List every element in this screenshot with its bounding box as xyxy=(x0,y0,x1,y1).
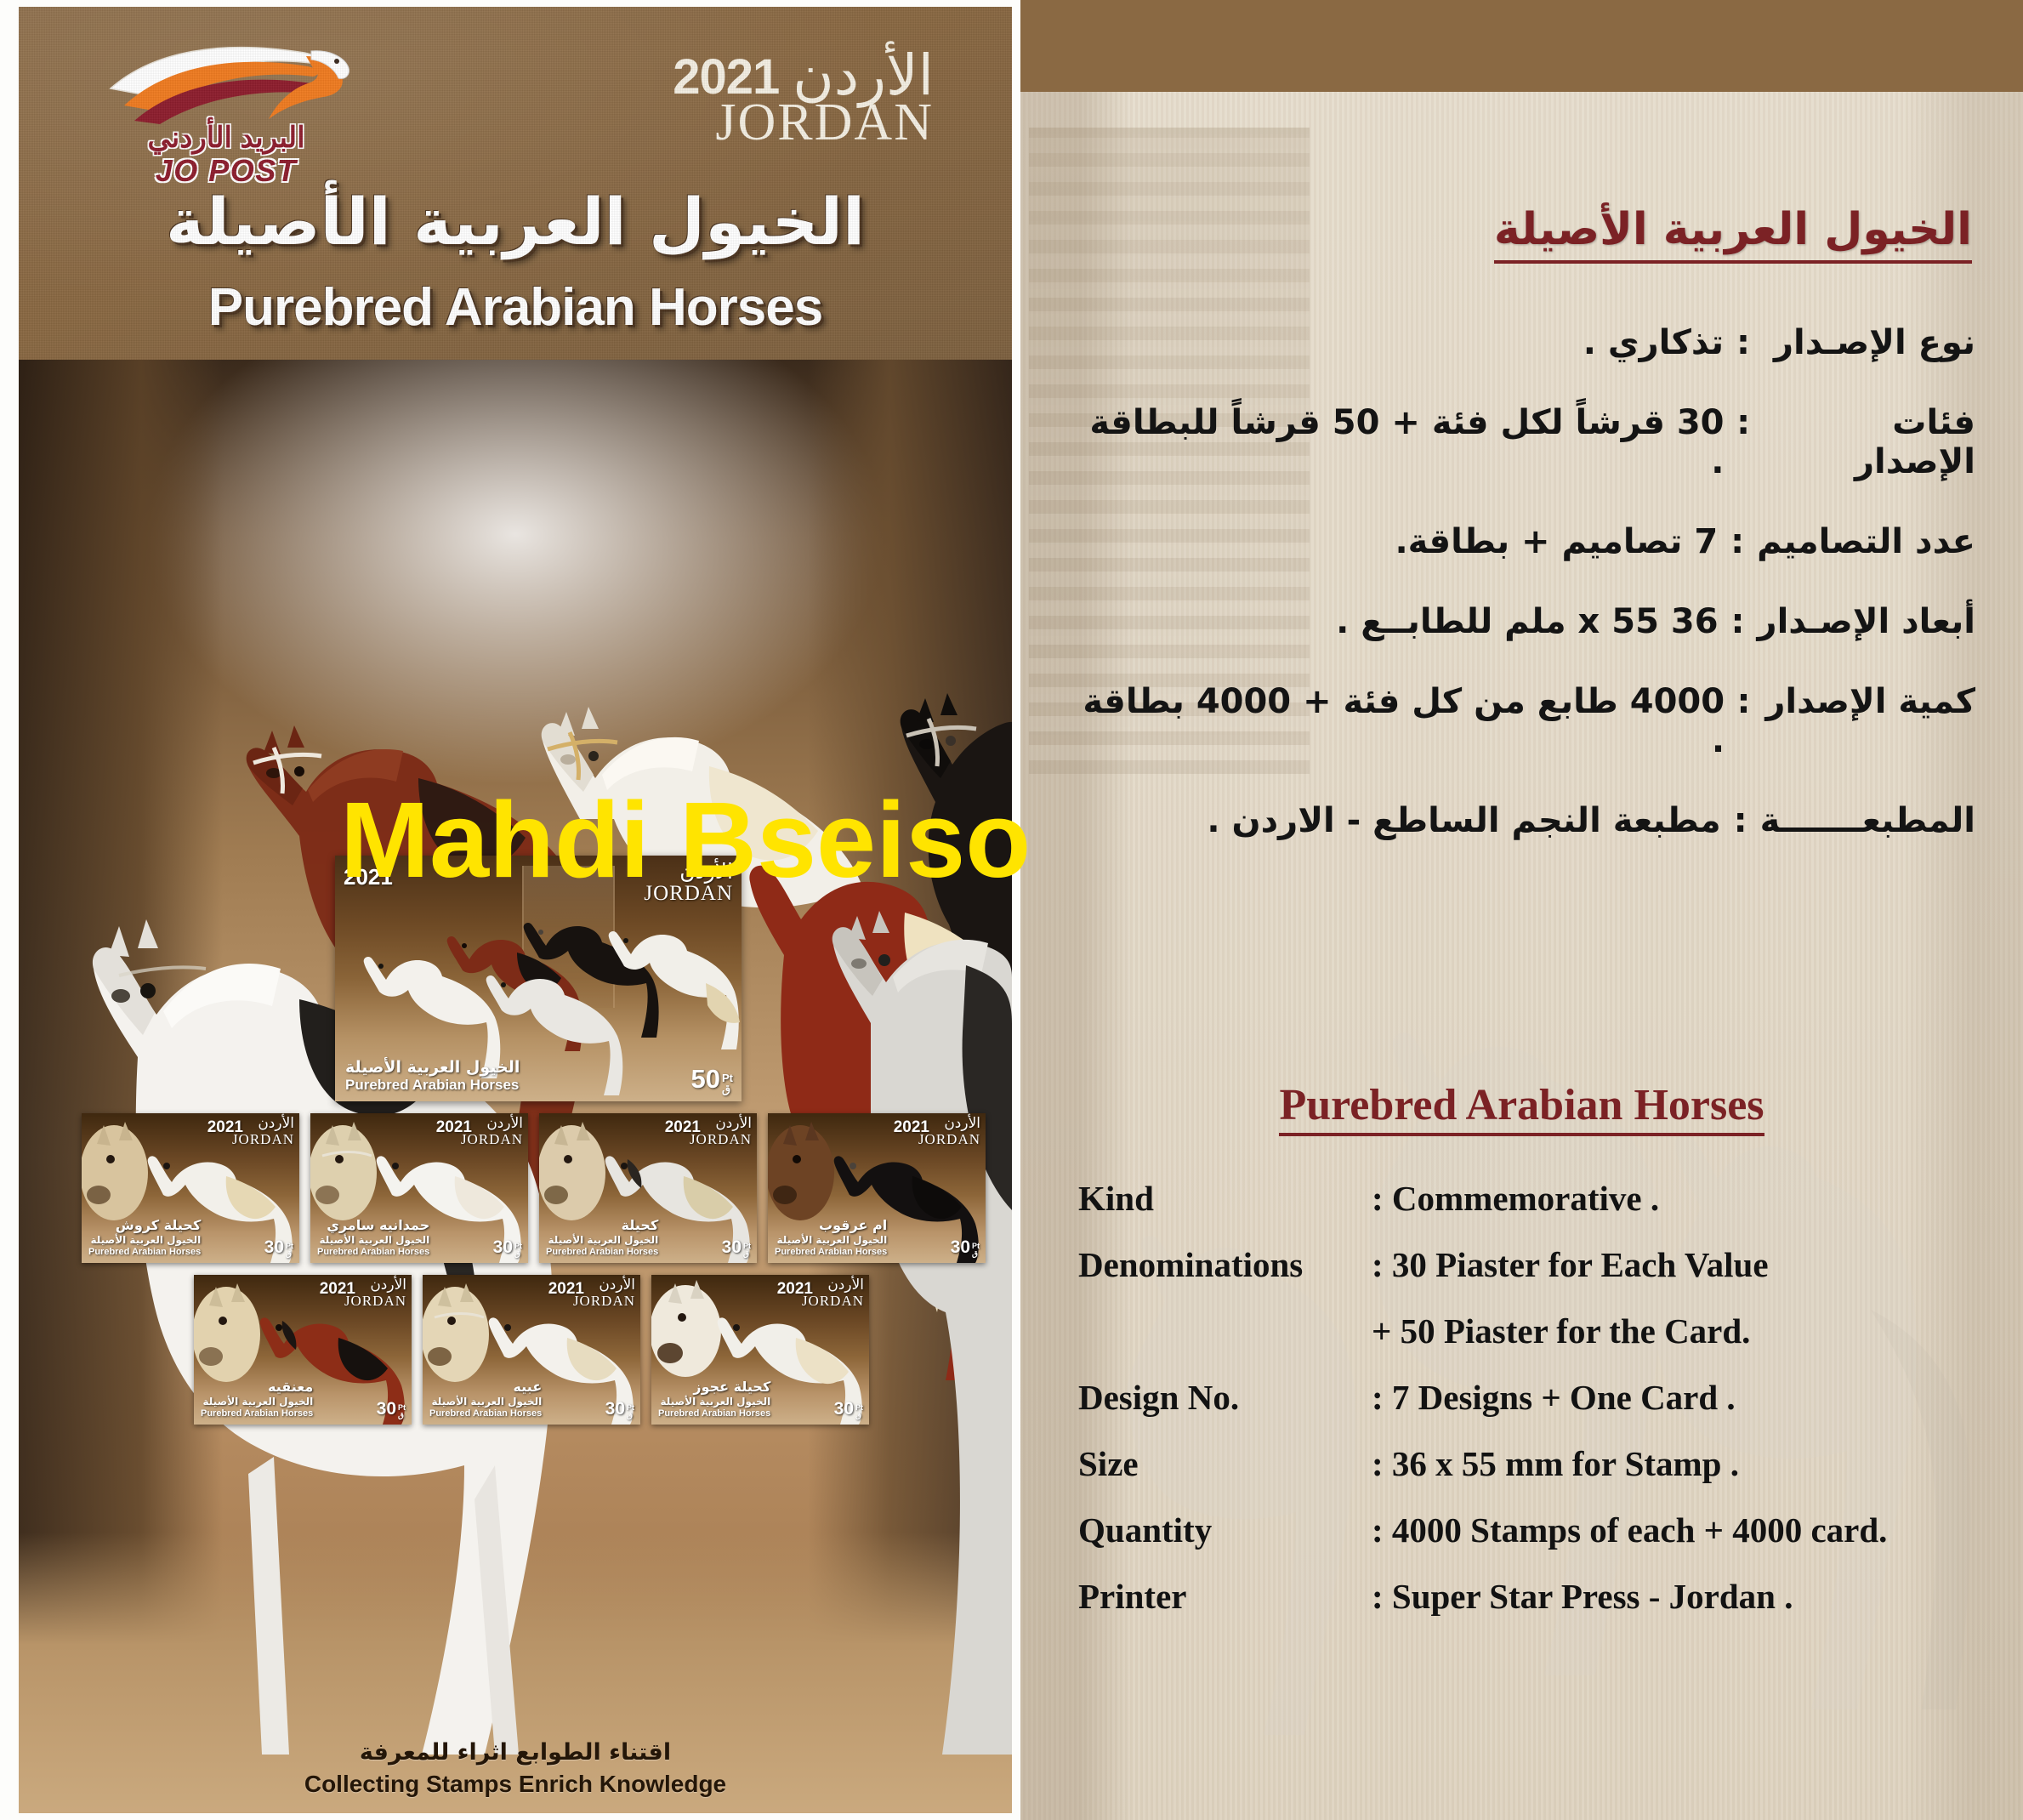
stamp-7-country-arabic: الأردن xyxy=(802,1278,864,1293)
sheet-caption: الخيول العربية الأصيلة Purebred Arabian … xyxy=(345,1059,520,1093)
stamp-6-country-arabic: الأردن xyxy=(573,1278,635,1293)
leaflet-title-english: Purebred Arabian Horses xyxy=(19,277,1012,338)
stamp-7[interactable]: 2021 الأردن JORDAN كحيلة عجوز الخيول الع… xyxy=(651,1275,869,1425)
stamp-4-caption-arabic: الخيول العربية الأصيلة xyxy=(775,1235,887,1246)
leaflet-photo: 2021 الأردن JORDAN الخيول العربية الأصيل… xyxy=(19,360,1012,1813)
info-label-english-3: Size xyxy=(1078,1443,1372,1484)
info-value-english-4: : 4000 Stamps of each + 4000 card. xyxy=(1372,1510,1887,1550)
leaflet-front-panel: البريد الأردني JO POST 2021 الأردن JORDA… xyxy=(19,7,1012,1813)
stamp-6-caption-english: Purebred Arabian Horses xyxy=(429,1408,542,1419)
stamp-2-denomination: 30 Ptق xyxy=(493,1237,522,1258)
info-value-arabic-5: مطبعة النجم الساطع - الاردن . xyxy=(1207,801,1720,840)
stamp-4[interactable]: 2021 الأردن JORDAN ام عرقوب الخيول العرب… xyxy=(768,1113,986,1263)
stamp-1-caption: كحيلة كروش الخيول العربية الأصيلة Purebr… xyxy=(88,1218,201,1257)
info-row-english: Kind : Commemorative . xyxy=(1078,1178,2005,1219)
info-label-arabic-1: فئات الإصدار xyxy=(1763,403,1975,481)
stamp-6-caption: عبيه الخيول العربية الأصيلة Purebred Ara… xyxy=(429,1379,542,1419)
stamp-5-denomination-value: 30 xyxy=(377,1399,396,1419)
stamp-3-horse-name: كحيلة xyxy=(546,1218,658,1233)
stamp-2-denomination-value: 30 xyxy=(493,1237,513,1258)
stamp-4-caption: ام عرقوب الخيول العربية الأصيلة Purebred… xyxy=(775,1218,887,1257)
stamp-row-2: 2021 الأردن JORDAN معنقيه الخيول العربية… xyxy=(194,1275,869,1425)
info-panel-top-band xyxy=(1020,0,2023,92)
info-label-arabic-3: أبعاد الإصـدار xyxy=(1758,602,1975,641)
stamp-7-country: الأردن JORDAN xyxy=(802,1278,864,1308)
leaflet-info-panel: الخيول العربية الأصيلة نوع الإصـدار : تذ… xyxy=(1020,0,2023,1820)
stamp-2-currency-ar: ق xyxy=(514,1250,522,1258)
footer-english: Collecting Stamps Enrich Knowledge xyxy=(19,1771,1012,1798)
info-row-arabic: فئات الإصدار : 30 قرشاً لكل فئة + 50 قرش… xyxy=(1074,403,1975,481)
stamp-6-currency-ar: ق xyxy=(627,1412,634,1419)
info-value-english-3: : 36 x 55 mm for Stamp . xyxy=(1372,1443,1739,1484)
stamp-5-caption-english: Purebred Arabian Horses xyxy=(201,1408,313,1419)
sheet-caption-english: Purebred Arabian Horses xyxy=(345,1077,520,1093)
stamp-3-country-english: JORDAN xyxy=(690,1132,752,1146)
info-rows-english: Kind : Commemorative . Denominations : 3… xyxy=(1078,1178,2005,1642)
stamp-row-1: 2021 الأردن JORDAN كحيلة كروش الخيول الع… xyxy=(82,1113,986,1263)
stamp-3-country-arabic: الأردن xyxy=(690,1117,752,1131)
stamp-5-country: الأردن JORDAN xyxy=(344,1278,406,1308)
stamp-1-currency-ar: ق xyxy=(286,1250,293,1258)
stamp-3-caption-arabic: الخيول العربية الأصيلة xyxy=(546,1235,658,1246)
stamp-4-denomination-value: 30 xyxy=(951,1237,970,1258)
emblem-country: JORDAN xyxy=(594,97,934,148)
info-colon-4: : xyxy=(1725,682,1763,721)
stamp-6-country: الأردن JORDAN xyxy=(573,1278,635,1308)
stamp-1-horse-name: كحيلة كروش xyxy=(88,1218,201,1233)
stamp-5-horse-name: معنقيه xyxy=(201,1379,313,1395)
sheet-denomination-value: 50 xyxy=(691,1064,720,1095)
sheet-horse-white-3 xyxy=(609,931,740,1049)
info-value-arabic-3: 36 x 55 ملم للطابــع . xyxy=(1336,602,1718,641)
info-colon-3: : xyxy=(1719,602,1758,641)
info-value-arabic-4: 4000 طابع من كل فئة + 4000 بطاقة . xyxy=(1074,682,1725,760)
info-label-arabic-4: كمية الإصدار xyxy=(1763,682,1975,721)
info-colon-0: : xyxy=(1724,323,1763,362)
info-label-english-4: Quantity xyxy=(1078,1510,1372,1550)
stamp-3-denomination: 30 Ptق xyxy=(722,1237,751,1258)
info-label-arabic-0: نوع الإصـدار xyxy=(1763,323,1975,362)
info-row-arabic: المطبعـــــــة : مطبعة النجم الساطع - ال… xyxy=(1074,801,1975,840)
stamp-7-country-english: JORDAN xyxy=(802,1294,864,1308)
stamp-2-country-english: JORDAN xyxy=(461,1132,523,1146)
stamp-5-country-english: JORDAN xyxy=(344,1294,406,1308)
stamp-1-country-english: JORDAN xyxy=(232,1132,294,1146)
stamp-6-denomination: 30 Ptق xyxy=(605,1399,634,1419)
stamp-2-country-arabic: الأردن xyxy=(461,1117,523,1131)
stamp-1-country: الأردن JORDAN xyxy=(232,1117,294,1146)
info-label-arabic-2: عدد التصاميم xyxy=(1757,522,1975,561)
info-label-english-2: Design No. xyxy=(1078,1377,1372,1418)
stamp-6-country-english: JORDAN xyxy=(573,1294,635,1308)
info-row-arabic: نوع الإصـدار : تذكاري . xyxy=(1074,323,1975,362)
info-colon-2: : xyxy=(1718,522,1757,561)
info-label-english-5: Printer xyxy=(1078,1576,1372,1617)
stamp-7-caption: كحيلة عجوز الخيول العربية الأصيلة Purebr… xyxy=(658,1379,770,1419)
stamp-4-currency-ar: ق xyxy=(972,1250,980,1258)
info-row-english: Size : 36 x 55 mm for Stamp . xyxy=(1078,1443,2005,1484)
stamp-2-caption: حمدانيه سامري الخيول العربية الأصيلة Pur… xyxy=(317,1218,429,1257)
stamp-6[interactable]: 2021 الأردن JORDAN عبيه الخيول العربية ا… xyxy=(423,1275,640,1425)
info-heading-arabic: الخيول العربية الأصيلة xyxy=(1494,204,1972,264)
info-value-english-0: : Commemorative . xyxy=(1372,1178,1659,1219)
stamp-3-caption: كحيلة الخيول العربية الأصيلة Purebred Ar… xyxy=(546,1218,658,1257)
stamp-2-caption-arabic: الخيول العربية الأصيلة xyxy=(317,1235,429,1246)
stamp-2-caption-english: Purebred Arabian Horses xyxy=(317,1247,429,1257)
stamp-6-denomination-value: 30 xyxy=(605,1399,625,1419)
info-value-arabic-2: 7 تصاميم + بطاقة. xyxy=(1395,522,1718,561)
info-row-english: Design No. : 7 Designs + One Card . xyxy=(1078,1377,2005,1418)
info-row-arabic: عدد التصاميم : 7 تصاميم + بطاقة. xyxy=(1074,522,1975,561)
stamp-2-country: الأردن JORDAN xyxy=(461,1117,523,1146)
stamp-1-caption-arabic: الخيول العربية الأصيلة xyxy=(88,1235,201,1246)
stamp-2[interactable]: 2021 الأردن JORDAN حمدانيه سامري الخيول … xyxy=(310,1113,528,1263)
footer-arabic: اقتناء الطوابع اثراء للمعرفة xyxy=(19,1739,1012,1766)
stamp-7-caption-english: Purebred Arabian Horses xyxy=(658,1408,770,1419)
stamp-3-caption-english: Purebred Arabian Horses xyxy=(546,1247,658,1257)
stamp-5-caption-arabic: الخيول العربية الأصيلة xyxy=(201,1396,313,1408)
info-rows-arabic: نوع الإصـدار : تذكاري . فئات الإصدار : 3… xyxy=(1074,323,1975,881)
stamp-1-denomination: 30 Ptق xyxy=(264,1237,293,1258)
info-row-arabic: أبعاد الإصـدار : 36 x 55 ملم للطابــع . xyxy=(1074,602,1975,641)
leaflet-title-arabic: الخيول العربية الأصيلة xyxy=(19,184,1012,259)
info-row-arabic: كمية الإصدار : 4000 طابع من كل فئة + 400… xyxy=(1074,682,1975,760)
info-value-arabic-1: 30 قرشاً لكل فئة + 50 قرشاً للبطاقة . xyxy=(1074,403,1724,481)
stamp-5-caption: معنقيه الخيول العربية الأصيلة Purebred A… xyxy=(201,1379,313,1419)
stamp-3[interactable]: 2021 الأردن JORDAN كحيلة الخيول العربية … xyxy=(539,1113,757,1263)
sheet-currency-ar: ق xyxy=(722,1083,733,1095)
stamp-1-denomination-value: 30 xyxy=(264,1237,284,1258)
info-colon-5: : xyxy=(1721,801,1760,840)
jopost-logo-arabic: البريد الأردني xyxy=(99,121,354,155)
watermark-text: Mahdi Bseiso xyxy=(340,787,1031,894)
stamp-5-denomination: 30 Ptق xyxy=(377,1399,406,1419)
info-label-english-1: Denominations xyxy=(1078,1244,1372,1285)
stamp-7-horse-name: كحيلة عجوز xyxy=(658,1379,770,1395)
stamp-7-caption-arabic: الخيول العربية الأصيلة xyxy=(658,1396,770,1408)
jopost-logo: البريد الأردني JO POST xyxy=(94,36,374,185)
stamp-3-denomination-value: 30 xyxy=(722,1237,742,1258)
stamp-2-horse-name: حمدانيه سامري xyxy=(317,1218,429,1233)
leaflet-footer: اقتناء الطوابع اثراء للمعرفة Collecting … xyxy=(19,1739,1012,1798)
stamp-5-currency-ar: ق xyxy=(398,1412,406,1419)
info-row-english: Denominations : 30 Piaster for Each Valu… xyxy=(1078,1244,2005,1285)
stamp-5-country-arabic: الأردن xyxy=(344,1278,406,1293)
stamp-4-country-arabic: الأردن xyxy=(918,1117,980,1131)
stamp-1-country-arabic: الأردن xyxy=(232,1117,294,1131)
leaflet-scan: البريد الأردني JO POST 2021 الأردن JORDA… xyxy=(0,0,2023,1820)
info-value-english-2: : 7 Designs + One Card . xyxy=(1372,1377,1736,1418)
info-heading-english: Purebred Arabian Horses xyxy=(1279,1081,1764,1136)
stamp-4-country: الأردن JORDAN xyxy=(918,1117,980,1146)
info-row-english: Quantity : 4000 Stamps of each + 4000 ca… xyxy=(1078,1510,2005,1550)
stamp-3-currency-ar: ق xyxy=(743,1250,751,1258)
stamp-7-currency-ar: ق xyxy=(855,1412,863,1419)
info-value-english-5: : Super Star Press - Jordan . xyxy=(1372,1576,1793,1617)
info-label-english-0: Kind xyxy=(1078,1178,1372,1219)
info-colon-1: : xyxy=(1724,403,1762,442)
stamp-4-horse-name: ام عرقوب xyxy=(775,1218,887,1233)
info-label-arabic-5: المطبعـــــــة xyxy=(1760,801,1975,840)
stamp-6-caption-arabic: الخيول العربية الأصيلة xyxy=(429,1396,542,1408)
stamp-3-country: الأردن JORDAN xyxy=(690,1117,752,1146)
info-value-english-1: : 30 Piaster for Each Value xyxy=(1372,1244,1769,1285)
info-value-english-1-cont: + 50 Piaster for the Card. xyxy=(1372,1311,2005,1351)
stamp-4-denomination: 30 Ptق xyxy=(951,1237,980,1258)
info-row-english: Printer : Super Star Press - Jordan . xyxy=(1078,1576,2005,1617)
sheet-denomination: 50 Pt ق xyxy=(691,1064,733,1095)
stamp-7-denomination-value: 30 xyxy=(834,1399,854,1419)
jopost-bird-icon xyxy=(94,36,374,129)
stamp-1[interactable]: 2021 الأردن JORDAN كحيلة كروش الخيول الع… xyxy=(82,1113,299,1263)
sheet-currency: Pt ق xyxy=(722,1072,733,1095)
leaflet-header: البريد الأردني JO POST 2021 الأردن JORDA… xyxy=(19,7,1012,360)
sheet-caption-arabic: الخيول العربية الأصيلة xyxy=(345,1059,520,1077)
stamp-4-caption-english: Purebred Arabian Horses xyxy=(775,1247,887,1257)
stamp-5[interactable]: 2021 الأردن JORDAN معنقيه الخيول العربية… xyxy=(194,1275,412,1425)
stamp-4-country-english: JORDAN xyxy=(918,1132,980,1146)
stamp-1-caption-english: Purebred Arabian Horses xyxy=(88,1247,201,1257)
stamp-7-denomination: 30 Ptق xyxy=(834,1399,863,1419)
stamp-6-horse-name: عبيه xyxy=(429,1379,542,1395)
info-value-arabic-0: تذكاري . xyxy=(1583,323,1724,362)
jordan-emblem: 2021 الأردن JORDAN xyxy=(594,41,934,160)
info-heading-english-wrap: Purebred Arabian Horses xyxy=(1020,1080,2023,1130)
